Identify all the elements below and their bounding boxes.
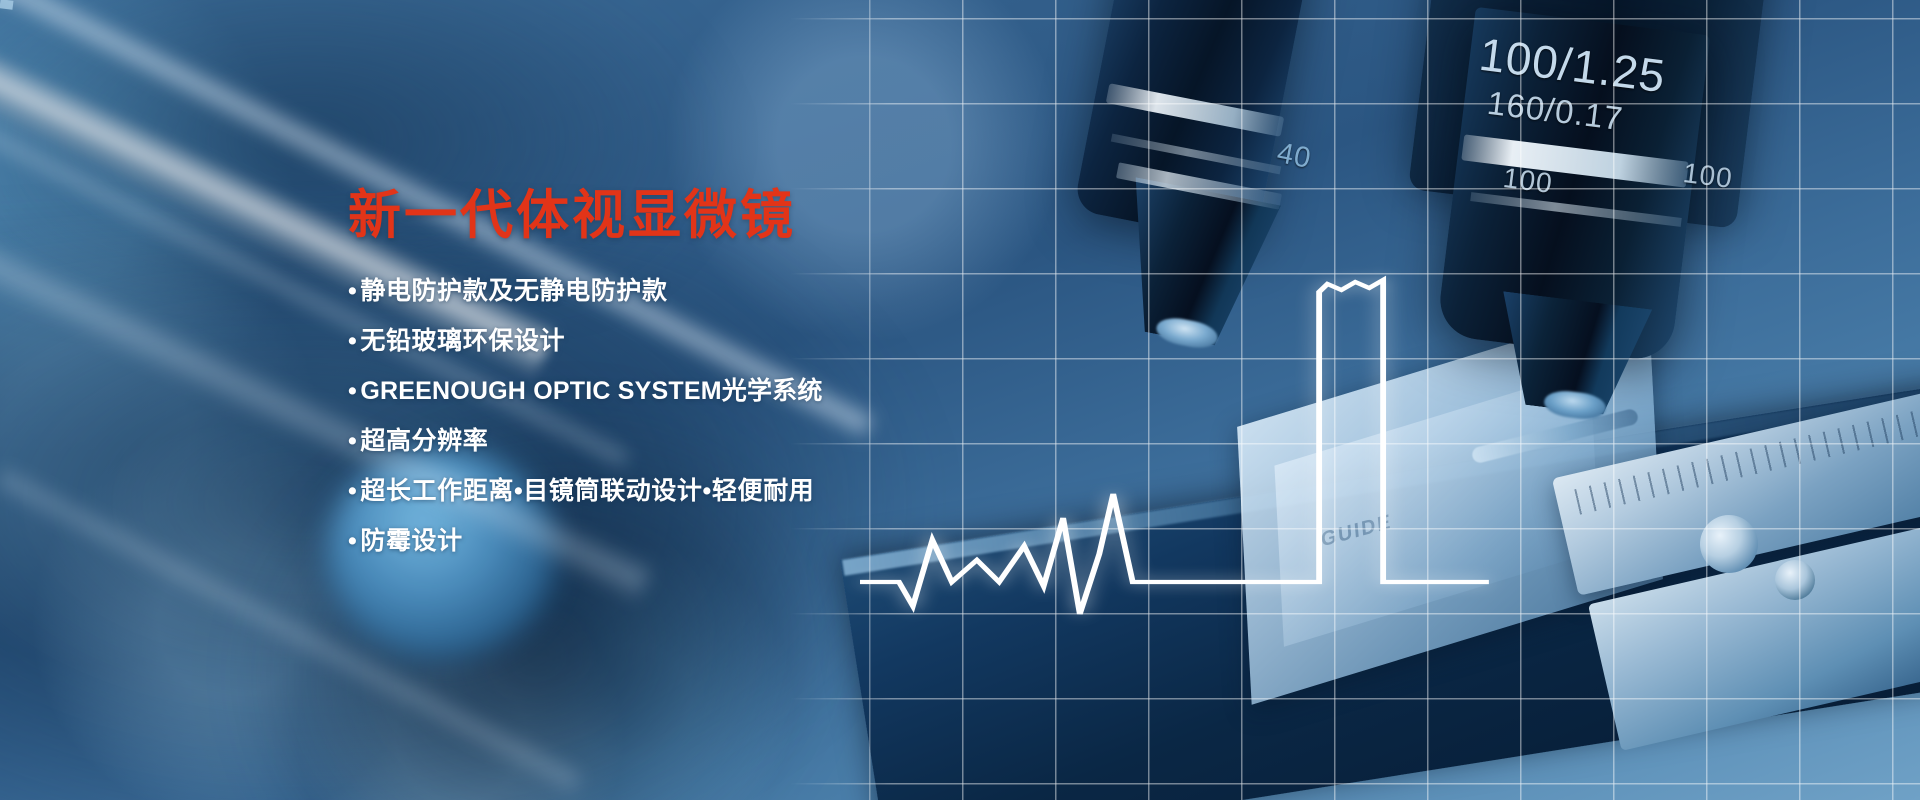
feature-list: •静电防护款及无静电防护款•无铅玻璃环保设计•GREENOUGH OPTIC S… [348, 279, 1068, 554]
bullet-dot-icon: • [348, 279, 357, 304]
bullet-dot-icon: • [348, 429, 357, 454]
feature-item-label: 超长工作距离•目镜筒联动设计•轻便耐用 [360, 479, 814, 504]
feature-item: •无铅玻璃环保设计 [348, 329, 1068, 354]
bullet-dot-icon: • [348, 379, 357, 404]
feature-item-label: 静电防护款及无静电防护款 [360, 279, 667, 304]
feature-item: •防霉设计 [348, 529, 1068, 554]
banner-copy: 新一代体视显微镜 •静电防护款及无静电防护款•无铅玻璃环保设计•GREENOUG… [348, 186, 1068, 579]
feature-item-label: 超高分辨率 [360, 429, 488, 454]
feature-item-label: GREENOUGH OPTIC SYSTEM光学系统 [360, 379, 822, 404]
feature-item: •静电防护款及无静电防护款 [348, 279, 1068, 304]
product-banner: GUIDE 100/1.25 160/0.17 40 100 100 [0, 0, 1920, 800]
feature-item: •GREENOUGH OPTIC SYSTEM光学系统 [348, 379, 1068, 404]
bullet-dot-icon: • [348, 329, 357, 354]
feature-item-label: 无铅玻璃环保设计 [360, 329, 565, 354]
feature-item: •超高分辨率 [348, 429, 1068, 454]
objective-marking-tick [0, 0, 13, 10]
feature-item: •超长工作距离•目镜筒联动设计•轻便耐用 [348, 479, 1068, 504]
feature-item-label: 防霉设计 [360, 529, 462, 554]
bullet-dot-icon: • [348, 529, 357, 554]
page-title: 新一代体视显微镜 [348, 186, 1068, 245]
bullet-dot-icon: • [348, 479, 357, 504]
